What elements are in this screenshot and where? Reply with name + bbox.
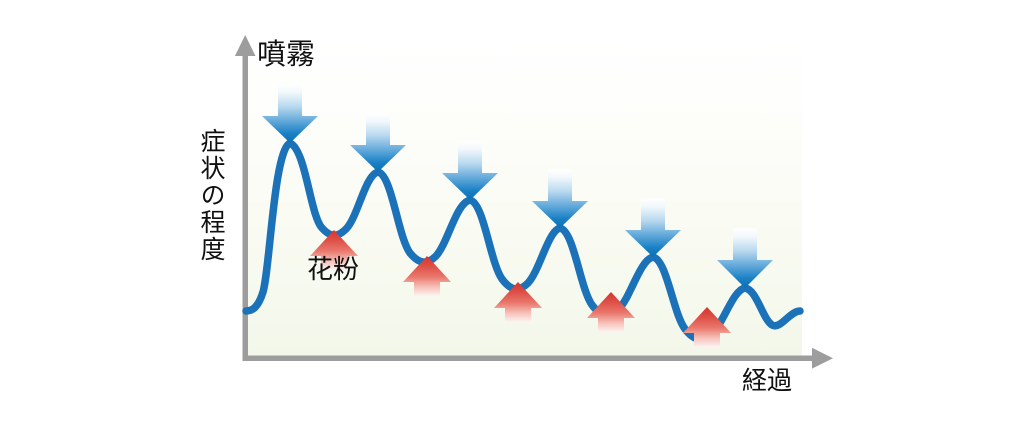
- arrow-right-icon: [812, 348, 833, 369]
- figure-canvas: 症状の程度 経過 噴霧 花粉: [0, 0, 1020, 431]
- x-axis-title: 経過: [742, 368, 792, 395]
- y-axis-title: 症状の程度: [190, 128, 224, 263]
- spray-annotation-label: 噴霧: [257, 41, 315, 70]
- pollen-annotation-label: 花粉: [307, 256, 359, 282]
- symptom-severity-chart: [0, 0, 1020, 431]
